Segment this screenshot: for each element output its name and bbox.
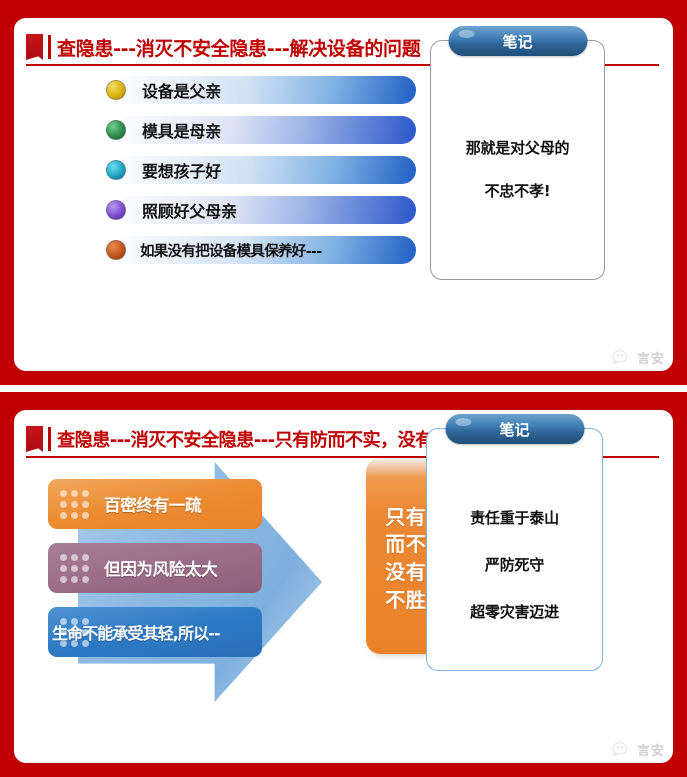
flag-icon (26, 426, 43, 452)
watermark: 言安 (612, 740, 665, 759)
note-header-badge: 笔记 (445, 414, 584, 444)
watermark-text: 言安 (637, 740, 665, 759)
statement-label: 百密终有一疏 (104, 492, 201, 516)
watermark: 言安 (612, 348, 665, 367)
title-divider-icon (48, 427, 51, 451)
list-item[interactable]: 模具是母亲 (106, 116, 416, 144)
note-line: 超零灾害迈进 (427, 601, 602, 622)
bullet-pill: 如果没有把设备模具保养好--- (116, 236, 416, 264)
note-line: 严防死守 (427, 554, 602, 575)
bullet-dot-icon (106, 120, 126, 140)
bullet-dot-icon (106, 80, 126, 100)
statement-box[interactable]: 但因为风险太大 (48, 543, 262, 593)
statement-box[interactable]: 百密终有一疏 (48, 479, 262, 529)
title-divider-icon (48, 35, 51, 59)
slide-2: 查隐患---消灭不安全隐患---只有防而不实，没有防不胜防 百密终有一疏 但因为… (0, 392, 687, 777)
bullet-dot-icon (106, 240, 126, 260)
list-item[interactable]: 设备是父亲 (106, 76, 416, 104)
bullet-label: 设备是父亲 (142, 78, 221, 102)
slide-2-card: 查隐患---消灭不安全隐患---只有防而不实，没有防不胜防 百密终有一疏 但因为… (14, 410, 673, 763)
bullet-pill: 模具是母亲 (116, 116, 416, 144)
dot-grid-icon (60, 554, 89, 583)
note-card: 笔记 责任重于泰山 严防死守 超零灾害迈进 (426, 428, 603, 671)
note-line: 责任重于泰山 (427, 507, 602, 528)
wechat-icon (612, 741, 634, 759)
bullet-label: 如果没有把设备模具保养好--- (140, 240, 322, 261)
flag-icon (26, 34, 43, 60)
bullet-pill: 照顾好父母亲 (116, 196, 416, 224)
note-line: 不忠不孝! (431, 180, 604, 201)
slide-1-card: 查隐患---消灭不安全隐患---解决设备的问题 设备是父亲 模具是母亲 (14, 18, 673, 371)
note-body: 那就是对父母的 不忠不孝! (431, 137, 604, 223)
bullet-pill: 要想孩子好 (116, 156, 416, 184)
note-card: 笔记 那就是对父母的 不忠不孝! (430, 40, 605, 280)
note-header-badge: 笔记 (448, 26, 587, 56)
watermark-text: 言安 (637, 348, 665, 367)
bullet-label: 模具是母亲 (142, 118, 221, 142)
note-line: 那就是对父母的 (431, 137, 604, 158)
note-body: 责任重于泰山 严防死守 超零灾害迈进 (427, 507, 602, 648)
dot-grid-icon (60, 490, 89, 519)
bullet-label: 要想孩子好 (142, 158, 221, 182)
bullet-label: 照顾好父母亲 (142, 198, 237, 222)
statement-box[interactable]: 生命不能承受其轻,所以-- (48, 607, 262, 657)
page-title: 查隐患---消灭不安全隐患---解决设备的问题 (57, 34, 420, 61)
list-item[interactable]: 要想孩子好 (106, 156, 416, 184)
statement-label: 生命不能承受其轻,所以-- (52, 620, 220, 644)
bullet-pill: 设备是父亲 (116, 76, 416, 104)
slide-deck-page: 查隐患---消灭不安全隐患---解决设备的问题 设备是父亲 模具是母亲 (0, 0, 687, 777)
slide-1: 查隐患---消灭不安全隐患---解决设备的问题 设备是父亲 模具是母亲 (0, 0, 687, 385)
bullet-dot-icon (106, 200, 126, 220)
wechat-icon (612, 349, 634, 367)
list-item[interactable]: 如果没有把设备模具保养好--- (106, 236, 416, 264)
bullet-list: 设备是父亲 模具是母亲 要想孩子好 (106, 76, 416, 276)
statement-label: 但因为风险太大 (104, 556, 217, 580)
bullet-dot-icon (106, 160, 126, 180)
list-item[interactable]: 照顾好父母亲 (106, 196, 416, 224)
